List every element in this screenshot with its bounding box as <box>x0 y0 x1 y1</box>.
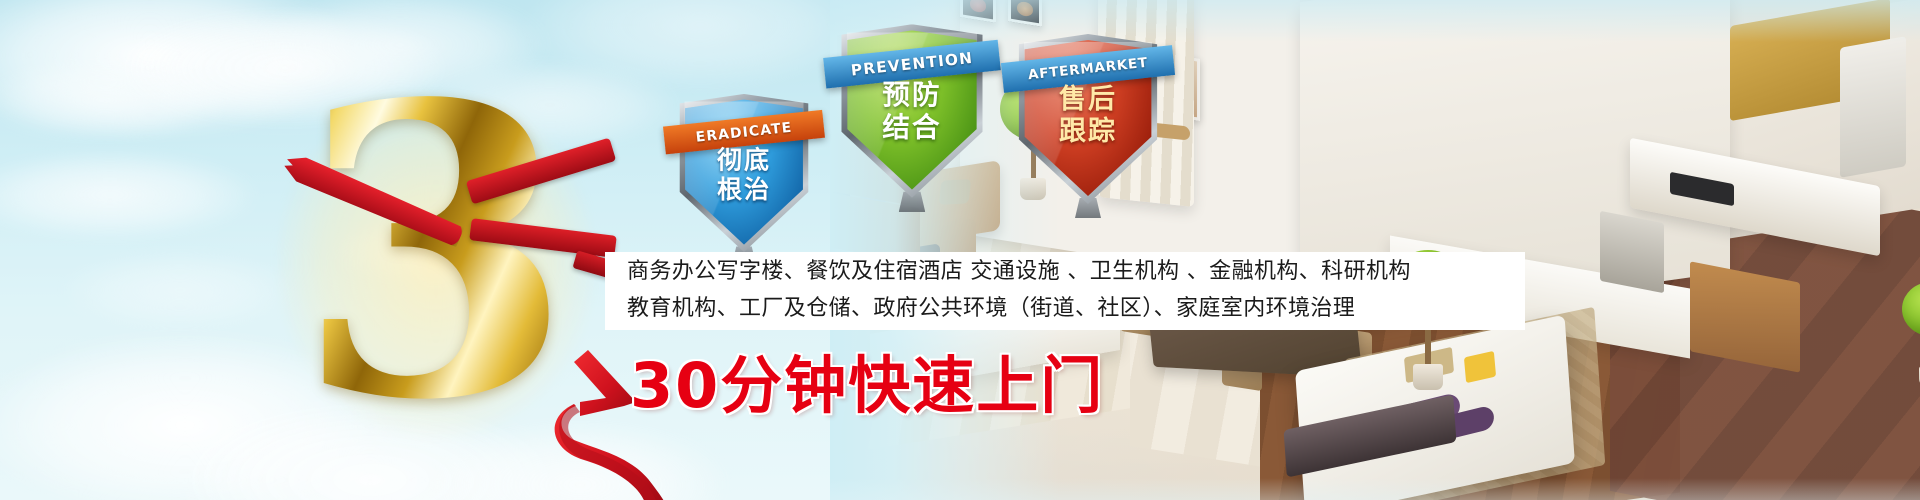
shield-cn-line1: 售后 <box>1016 86 1160 114</box>
service-scope-panel: 商务办公写字楼、餐饮及住宿酒店 交通设施 、卫生机构 、金融机构、科研机构 教育… <box>605 252 1525 330</box>
shield-cn-line2: 跟踪 <box>1016 118 1160 146</box>
shield-cn-line2: 根治 <box>677 178 811 204</box>
promo-headline: 30分钟快速上门 <box>630 355 1104 417</box>
shield-banner-text: AFTERMARKET <box>1027 55 1148 84</box>
shield-cn-line1: 彻底 <box>677 148 811 174</box>
shield-cn-line1: 预防 <box>839 81 986 110</box>
shield-badge-prevention: PREVENTION 预防 结合 <box>839 24 986 197</box>
promo-banner: 3 ERADIC <box>0 0 1920 500</box>
shield-badge-eradicate: ERADICATE 彻底 根治 <box>677 94 811 252</box>
shield-cn-line2: 结合 <box>839 114 986 143</box>
shield-badge-aftermarket: AFTERMARKET 售后 跟踪 <box>1016 34 1160 204</box>
service-scope-line-2: 教育机构、工厂及仓储、政府公共环境（街道、社区）、家庭室内环境治理 <box>627 291 1503 328</box>
shield-banner-text: ERADICATE <box>695 119 793 146</box>
shield-badge-group: ERADICATE 彻底 根治 PREVENTION 预防 结合 AFTERMA <box>0 0 1920 500</box>
service-scope-line-1: 商务办公写字楼、餐饮及住宿酒店 交通设施 、卫生机构 、金融机构、科研机构 <box>627 254 1503 291</box>
